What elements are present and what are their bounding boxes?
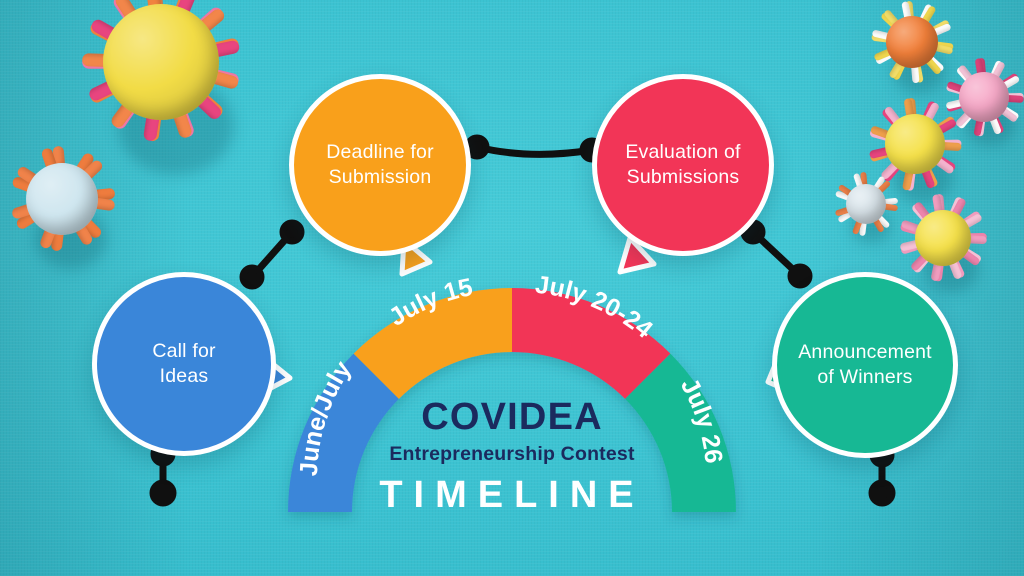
connector-dot [468,138,486,156]
stage-bubble-evaluation[interactable]: Evaluation of Submissions [592,74,774,256]
brand-subtitle: Entrepreneurship Contest [0,443,1024,466]
connector-dot [243,268,261,286]
stage-label-announcement: Announcement of Winners [782,340,948,390]
connector-dot [791,267,809,285]
connector-dot [283,223,301,241]
infographic-canvas: June/July July 15 July 20-24 July 26 [0,0,1024,576]
timeline-kicker: TIMELINE [0,474,1024,517]
stage-label-call-for-ideas: Call for Ideas [136,339,231,389]
connector-orange-red [477,147,592,154]
stage-label-evaluation: Evaluation of Submissions [609,140,756,190]
brand-title: COVIDEA [0,396,1024,439]
stage-bubble-deadline[interactable]: Deadline for Submission [289,74,471,256]
stage-label-deadline: Deadline for Submission [310,140,450,190]
